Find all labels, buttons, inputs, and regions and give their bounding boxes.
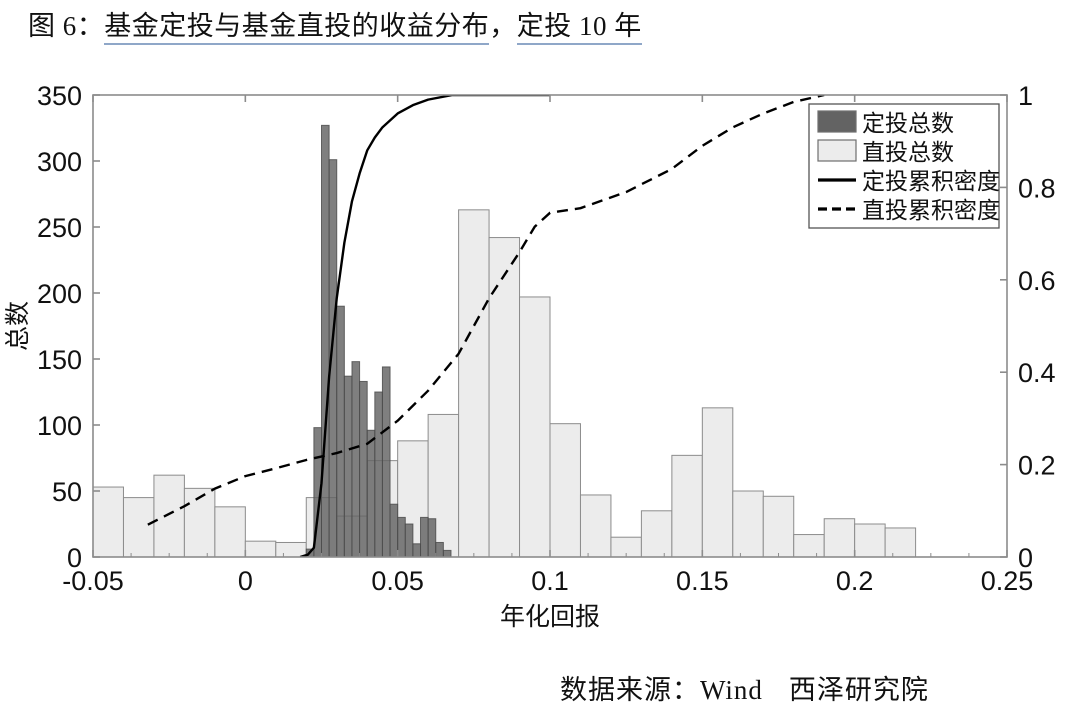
histogram-bar xyxy=(367,430,375,557)
figure-title-separator: ， xyxy=(489,11,517,41)
histogram-bar xyxy=(382,367,390,557)
axis-tick-label: 100 xyxy=(37,411,82,441)
histogram-bar xyxy=(405,524,413,557)
y-axis-right: 00.20.40.60.81 xyxy=(1000,81,1056,573)
figure-title-segment-1: 基金定投与基金直投的收益分布 xyxy=(104,11,489,45)
axis-tick-label: -0.05 xyxy=(62,566,124,596)
axis-tick-label: 0.6 xyxy=(1018,266,1056,296)
legend-label: 直投累积密度 xyxy=(862,197,1000,223)
histogram-bar xyxy=(93,487,123,557)
histogram-bar xyxy=(824,519,854,557)
histogram-bar xyxy=(794,535,824,557)
histogram-bar xyxy=(489,238,519,557)
histogram-bar xyxy=(702,408,732,557)
histogram-bar xyxy=(763,496,793,557)
histogram-bar xyxy=(459,210,489,557)
figure-container: 图 6：基金定投与基金直投的收益分布，定投 10 年 0501001502002… xyxy=(0,0,1080,725)
legend-swatch-light xyxy=(818,140,856,161)
axis-tick-label: 150 xyxy=(37,345,82,375)
histogram-bar xyxy=(154,475,184,557)
axis-tick-label: 0.05 xyxy=(371,566,424,596)
figure-title: 图 6：基金定投与基金直投的收益分布，定投 10 年 xyxy=(28,4,642,43)
y-axis-title: 总数 xyxy=(4,301,32,351)
histogram-bar xyxy=(520,297,550,557)
histogram-bar xyxy=(672,455,702,557)
figure-title-segment-2: 定投 10 年 xyxy=(517,11,642,45)
bar-series-light xyxy=(93,210,916,557)
histogram-bar xyxy=(641,511,671,557)
histogram-bar xyxy=(276,542,306,557)
histogram-bar xyxy=(360,381,368,557)
histogram-bar xyxy=(398,517,406,557)
histogram-bar xyxy=(337,306,345,557)
histogram-bar xyxy=(443,550,451,557)
axis-tick-label: 0 xyxy=(238,566,253,596)
x-axis-title: 年化回报 xyxy=(500,603,600,631)
histogram-bar xyxy=(123,498,153,557)
legend-label: 定投累积密度 xyxy=(862,168,1000,194)
histogram-bar xyxy=(733,491,763,557)
histogram-bar xyxy=(375,392,383,557)
histogram-bar xyxy=(428,519,436,557)
axis-tick-label: 50 xyxy=(52,477,82,507)
histogram-bar xyxy=(215,507,245,557)
histogram-bar xyxy=(550,424,580,557)
histogram-bar xyxy=(390,504,398,557)
legend-label: 直投总数 xyxy=(862,139,954,165)
legend-swatch-dark xyxy=(818,111,856,132)
chart-plot-area: 05010015020025030035000.20.40.60.81-0.05… xyxy=(0,76,1080,636)
histogram-bar xyxy=(436,542,444,557)
y-axis-left: 050100150200250300350 xyxy=(37,81,100,573)
histogram-bar xyxy=(352,362,360,557)
source-value: Wind xyxy=(700,675,763,705)
histogram-bar xyxy=(344,376,352,557)
axis-tick-label: 0.8 xyxy=(1018,173,1056,203)
legend-label: 定投总数 xyxy=(862,110,954,136)
histogram-cdf-chart: 05010015020025030035000.20.40.60.81-0.05… xyxy=(0,76,1080,636)
axis-tick-label: 200 xyxy=(37,279,82,309)
axis-tick-label: 250 xyxy=(37,213,82,243)
histogram-bar xyxy=(885,528,915,557)
bars-group xyxy=(93,125,916,557)
axis-tick-label: 0.1 xyxy=(531,566,569,596)
axis-tick-label: 0.15 xyxy=(676,566,729,596)
axis-tick-label: 0.4 xyxy=(1018,358,1056,388)
source-label: 数据来源： xyxy=(560,675,700,705)
axis-tick-label: 350 xyxy=(37,81,82,111)
histogram-bar xyxy=(245,541,275,557)
histogram-bar xyxy=(580,495,610,557)
axis-tick-label: 0.2 xyxy=(836,566,874,596)
axis-tick-label: 0.2 xyxy=(1018,451,1056,481)
histogram-bar xyxy=(855,524,885,557)
axis-tick-label: 300 xyxy=(37,147,82,177)
axis-tick-label: 0.25 xyxy=(981,566,1034,596)
source-institution: 西泽研究院 xyxy=(789,675,929,705)
histogram-bar xyxy=(421,517,429,557)
figure-title-prefix: 图 6： xyxy=(28,11,104,41)
figure-source-note: 数据来源：Wind西泽研究院 xyxy=(560,668,929,707)
histogram-bar xyxy=(413,544,421,557)
histogram-bar xyxy=(322,125,330,557)
chart-legend: 定投总数直投总数定投累积密度直投累积密度 xyxy=(809,104,1000,228)
axis-tick-label: 1 xyxy=(1018,81,1033,111)
